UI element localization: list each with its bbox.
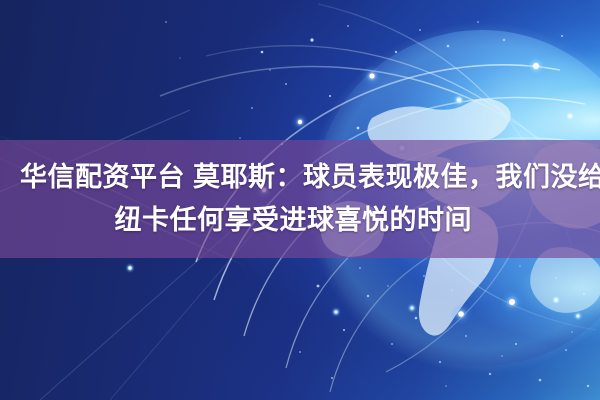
caption-text: 华信配资平台 莫耶斯：球员表现极佳，我们没给 纽卡任何享受进球喜悦的时间 [0,140,600,258]
caption-line-1: 华信配资平台 莫耶斯：球员表现极佳，我们没给 [20,156,600,199]
caption-line-2: 纽卡任何享受进球喜悦的时间 [115,199,583,242]
banner-image: 华信配资平台 莫耶斯：球员表现极佳，我们没给 纽卡任何享受进球喜悦的时间 [0,0,600,400]
